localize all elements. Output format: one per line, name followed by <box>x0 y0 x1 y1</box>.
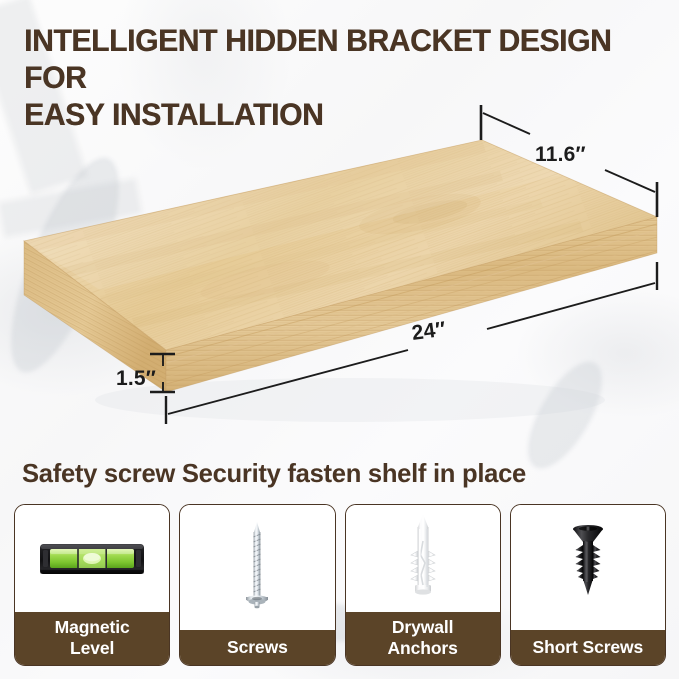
accessory-label-line-1: Short Screws <box>515 637 661 657</box>
accessory-label: Short Screws <box>511 630 665 665</box>
title-line-2: EASY INSTALLATION <box>24 96 643 133</box>
accessory-card-screws[interactable]: Screws <box>179 504 335 666</box>
title-line-1: INTELLIGENT HIDDEN BRACKET DESIGN FOR <box>24 22 643 96</box>
accessory-card-list: Magnetic Level <box>14 504 666 666</box>
magnetic-level-icon <box>39 539 145 579</box>
accessory-label: Screws <box>180 630 334 665</box>
dimension-label-height: 1.5″ <box>116 367 156 391</box>
accessory-card-drywall-anchors[interactable]: Drywall Anchors <box>345 504 501 666</box>
screw-icon <box>237 519 277 615</box>
accessory-image-area <box>346 505 500 612</box>
short-screw-icon <box>561 519 615 615</box>
accessory-image-area <box>511 505 665 630</box>
accessory-label-line-1: Screws <box>184 637 330 657</box>
product-infographic: INTELLIGENT HIDDEN BRACKET DESIGN FOR EA… <box>0 0 679 679</box>
accessory-card-short-screws[interactable]: Short Screws <box>510 504 666 666</box>
accessory-label-line-2: Anchors <box>350 638 496 658</box>
accessory-image-area <box>15 505 169 612</box>
dimension-label-width: 11.6″ <box>535 143 586 167</box>
drywall-anchor-icon <box>400 511 446 607</box>
accessory-label-line-1: Magnetic <box>19 617 165 637</box>
accessory-label: Magnetic Level <box>15 612 169 665</box>
accessory-label-line-1: Drywall <box>350 617 496 637</box>
dimension-label-length: 24″ <box>410 318 447 346</box>
accessory-image-area <box>180 505 334 630</box>
section-subtitle: Safety screw Security fasten shelf in pl… <box>22 458 526 489</box>
accessory-label: Drywall Anchors <box>346 612 500 665</box>
accessory-label-line-2: Level <box>19 638 165 658</box>
accessory-card-magnetic-level[interactable]: Magnetic Level <box>14 504 170 666</box>
page-title: INTELLIGENT HIDDEN BRACKET DESIGN FOR EA… <box>24 22 643 133</box>
